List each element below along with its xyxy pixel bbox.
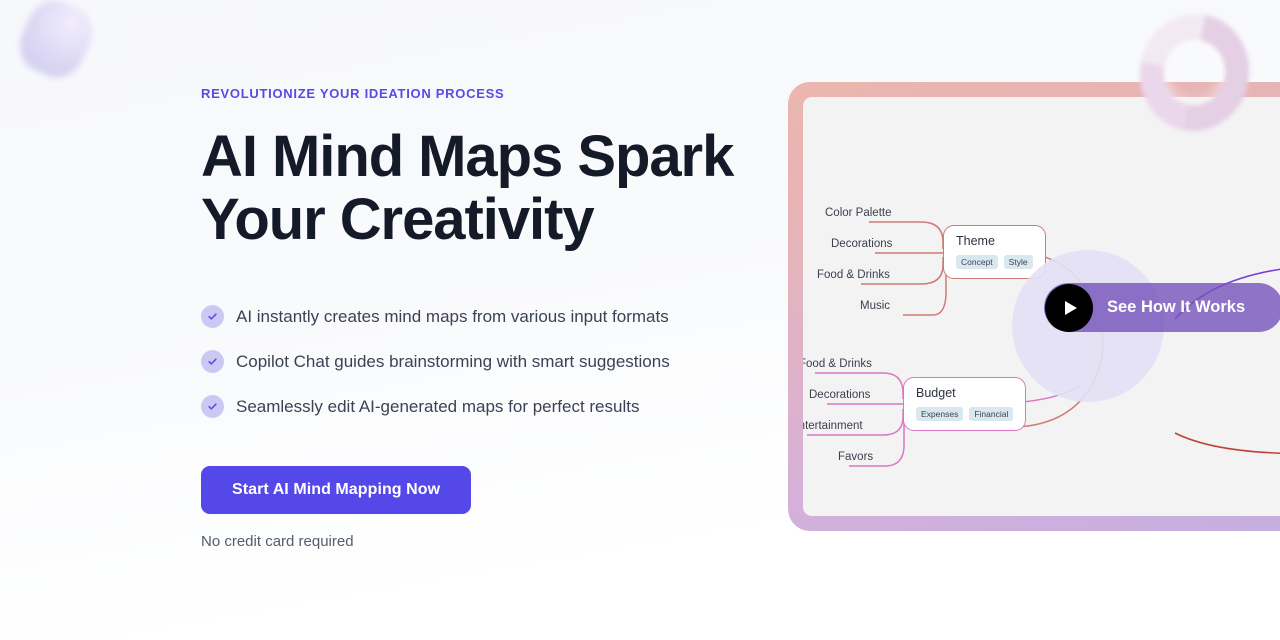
page-title-line-1: AI Mind Maps Spark — [201, 125, 741, 189]
see-how-it-works-button[interactable]: See How It Works — [1044, 283, 1280, 332]
branch-label: Entertainment — [803, 420, 863, 434]
feature-label: Seamlessly edit AI-generated maps for pe… — [236, 396, 639, 418]
list-item: AI instantly creates mind maps from vari… — [201, 294, 741, 339]
check-icon — [201, 395, 224, 418]
page-title: AI Mind Maps Spark Your Creativity — [201, 125, 741, 253]
node-tag: Expenses — [916, 407, 963, 421]
list-item: Copilot Chat guides brainstorming with s… — [201, 339, 741, 384]
check-icon — [201, 350, 224, 373]
node-tag: Style — [1004, 255, 1033, 269]
branch-label: Food & Drinks — [803, 358, 872, 372]
hero-eyebrow: REVOLUTIONIZE YOUR IDEATION PROCESS — [201, 86, 741, 102]
mindmap-node-budget[interactable]: Budget Expenses Financial — [903, 377, 1026, 431]
feature-list: AI instantly creates mind maps from vari… — [201, 294, 741, 429]
cta-note: No credit card required — [201, 533, 741, 550]
node-tag-list: Expenses Financial — [916, 407, 1013, 421]
check-icon — [201, 305, 224, 328]
list-item: Seamlessly edit AI-generated maps for pe… — [201, 384, 741, 429]
hero-content: REVOLUTIONIZE YOUR IDEATION PROCESS AI M… — [201, 86, 741, 550]
feature-label: AI instantly creates mind maps from vari… — [236, 306, 669, 328]
node-title: Theme — [956, 234, 1033, 250]
see-how-it-works-label: See How It Works — [1107, 298, 1245, 317]
feature-label: Copilot Chat guides brainstorming with s… — [236, 351, 670, 373]
node-tag: Concept — [956, 255, 998, 269]
branch-label: Color Palette — [825, 207, 891, 221]
node-title: Budget — [916, 386, 1013, 402]
node-tag: Financial — [969, 407, 1013, 421]
branch-label: Decorations — [831, 238, 892, 252]
start-mind-mapping-button[interactable]: Start AI Mind Mapping Now — [201, 466, 471, 514]
node-tag-list: Concept Style — [956, 255, 1033, 269]
play-icon — [1045, 284, 1093, 332]
page-title-line-2: Your Creativity — [201, 188, 741, 252]
branch-label: Food & Drinks — [817, 269, 890, 283]
mindmap-node-theme[interactable]: Theme Concept Style — [943, 225, 1046, 279]
branch-label: Decorations — [809, 389, 870, 403]
branch-label: Favors — [838, 451, 873, 465]
branch-label: Music — [860, 300, 890, 314]
